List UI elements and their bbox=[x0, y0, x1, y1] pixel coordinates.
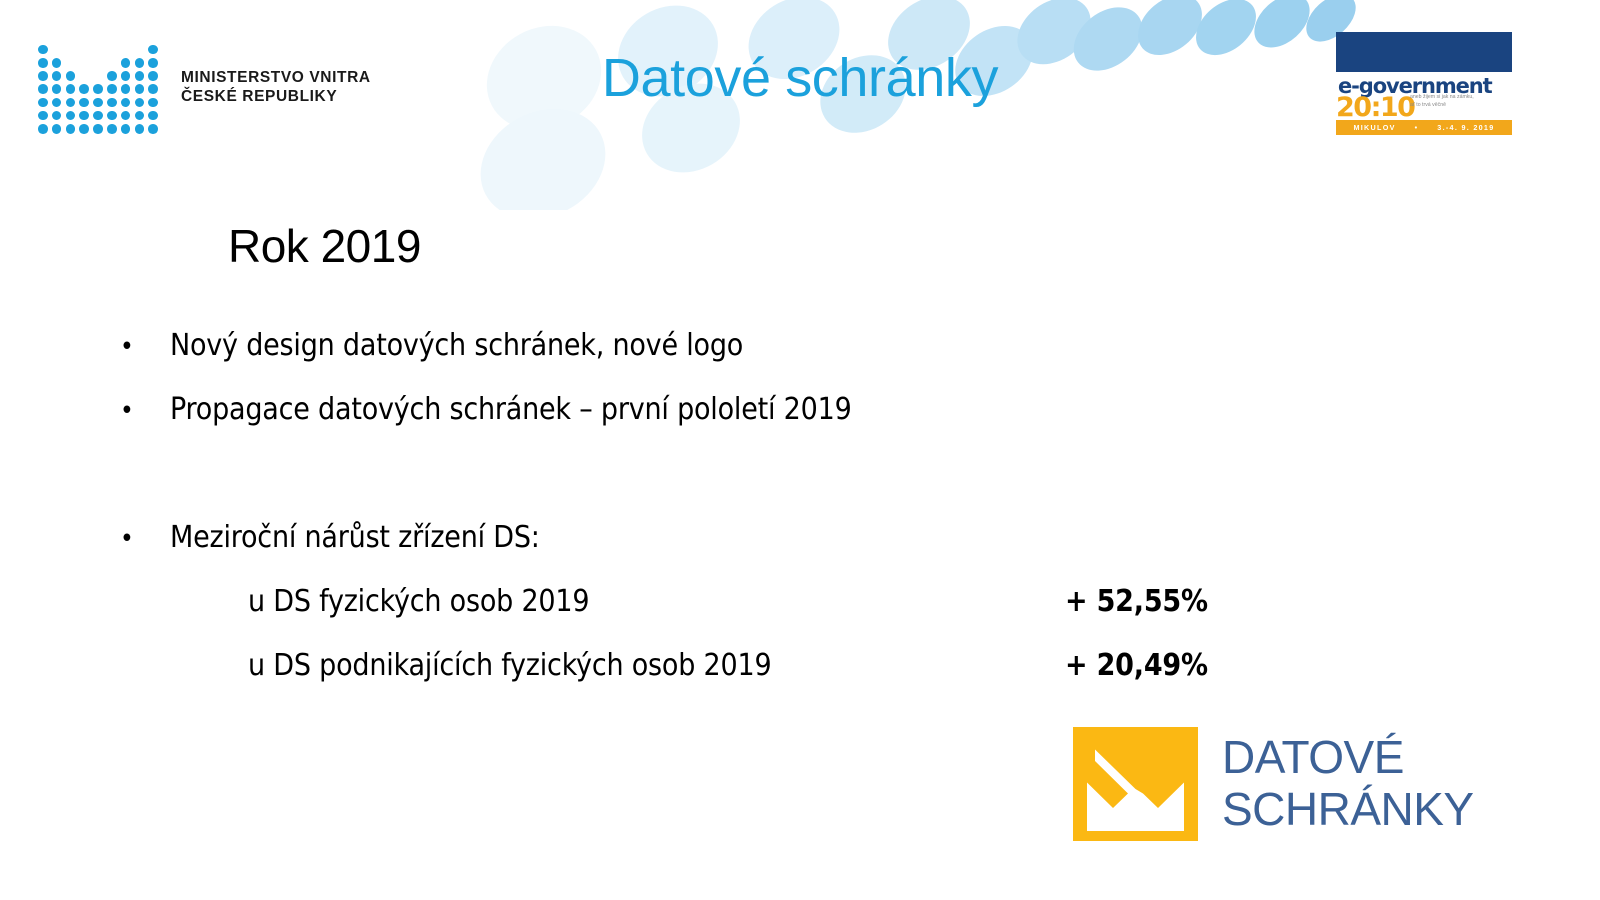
stat-row: u DS podnikajících fyzických osob 2019 +… bbox=[120, 648, 1320, 712]
egov-year: 20:10 bbox=[1336, 92, 1414, 123]
egov-location: MIKULOV bbox=[1353, 123, 1395, 132]
bullet-item: • Nový design datových schránek, nové lo… bbox=[120, 328, 1320, 392]
ministry-logo-dot bbox=[79, 111, 89, 121]
bullet-text: Propagace datových schránek – první polo… bbox=[170, 392, 852, 427]
bullet-text: Meziroční nárůst zřízení DS: bbox=[170, 520, 540, 555]
ministry-logo-dot bbox=[66, 124, 76, 134]
e-government-logo: e-government 20:10 aneb žijem si jak na … bbox=[1334, 32, 1514, 132]
ds-word-line1: DATOVÉ bbox=[1222, 732, 1474, 784]
bullet-marker-icon: • bbox=[120, 526, 170, 552]
bullet-spacer bbox=[120, 456, 1320, 520]
ministry-logo-dot bbox=[148, 124, 158, 134]
bullet-marker-icon: • bbox=[120, 334, 170, 360]
ministry-logo-dot bbox=[107, 111, 117, 121]
ministry-logo-dot bbox=[121, 124, 131, 134]
section-heading: Rok 2019 bbox=[228, 219, 421, 273]
egov-navy-block bbox=[1336, 32, 1512, 72]
egov-dates: 3.-4. 9. 2019 bbox=[1437, 123, 1494, 132]
ministry-logo-dot bbox=[135, 124, 145, 134]
ministry-logo-dot bbox=[107, 124, 117, 134]
slide-canvas: MINISTERSTVO VNITRA ČESKÉ REPUBLIKY Dato… bbox=[0, 0, 1600, 900]
ministry-logo-dot bbox=[93, 124, 103, 134]
ministry-logo-dot bbox=[66, 111, 76, 121]
bullet-text: Nový design datových schránek, nové logo bbox=[170, 328, 743, 363]
ministry-logo-dot bbox=[121, 111, 131, 121]
ministry-logo-dot bbox=[52, 124, 62, 134]
ministry-logo-dot bbox=[79, 124, 89, 134]
egov-tagline-line1: aneb žijem si jak na zámku, bbox=[1410, 94, 1510, 102]
bullet-marker-icon: • bbox=[120, 398, 170, 424]
ministry-logo-dot bbox=[135, 111, 145, 121]
ministry-logo-dot bbox=[93, 111, 103, 121]
egov-venue-bar: MIKULOV • 3.-4. 9. 2019 bbox=[1336, 120, 1512, 135]
bullet-item: • Meziroční nárůst zřízení DS: bbox=[120, 520, 1320, 584]
datove-schranky-logo: DATOVÉ SCHRÁNKY bbox=[1073, 727, 1474, 841]
egov-tagline: aneb žijem si jak na zámku, ať to trvá v… bbox=[1410, 94, 1510, 110]
ministry-logo-dot bbox=[52, 111, 62, 121]
ministry-logo-dot bbox=[38, 124, 48, 134]
stat-value: + 52,55% bbox=[1065, 584, 1208, 619]
stat-row: u DS fyzických osob 2019 + 52,55% bbox=[120, 584, 1320, 648]
ds-word-line2: SCHRÁNKY bbox=[1222, 784, 1474, 836]
stat-label: u DS fyzických osob 2019 bbox=[248, 584, 1065, 619]
datove-schranky-wordmark: DATOVÉ SCHRÁNKY bbox=[1222, 732, 1474, 835]
ministry-logo-dot bbox=[148, 111, 158, 121]
stat-value: + 20,49% bbox=[1065, 648, 1208, 683]
stat-label: u DS podnikajících fyzických osob 2019 bbox=[248, 648, 1065, 683]
content-body: • Nový design datových schránek, nové lo… bbox=[120, 328, 1320, 712]
egov-separator: • bbox=[1415, 123, 1419, 132]
datove-schranky-envelope-arrow-icon bbox=[1073, 727, 1198, 841]
egov-tagline-line2: ať to trvá věčně bbox=[1410, 102, 1510, 110]
ministry-logo-dot bbox=[38, 111, 48, 121]
bullet-item: • Propagace datových schránek – první po… bbox=[120, 392, 1320, 456]
